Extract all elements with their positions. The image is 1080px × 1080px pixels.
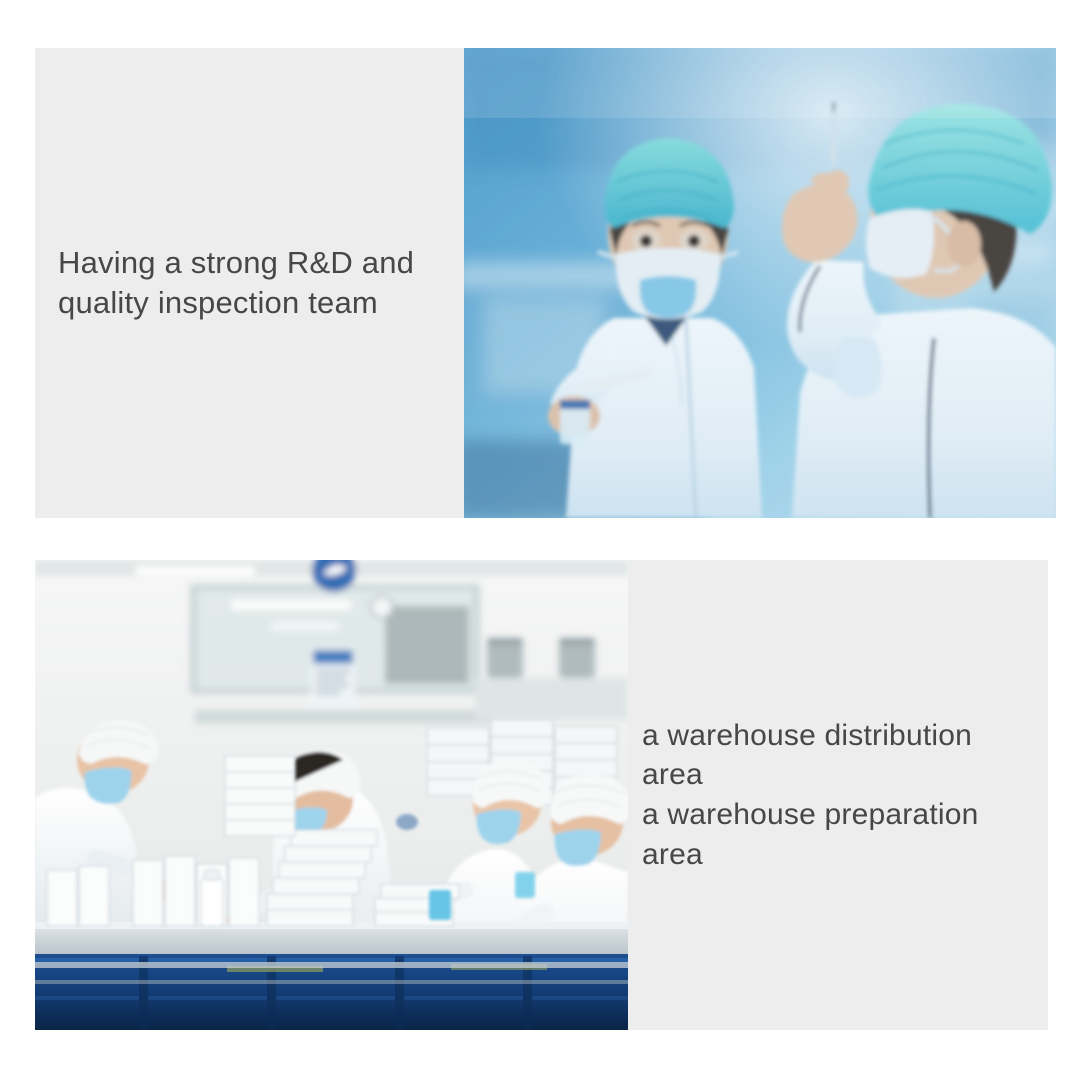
section-warehouse-areas: a warehouse distribution area a warehous… [35, 560, 1048, 1030]
poster-page: Having a strong R&D and quality inspecti… [0, 0, 1080, 1080]
caption-panel-warehouse: a warehouse distribution area a warehous… [628, 560, 1048, 1030]
lab-technicians-photo-graphic [464, 48, 1056, 518]
warehouse-packing-photo [35, 560, 628, 1030]
lab-technicians-photo [464, 48, 1056, 518]
warehouse-packing-photo-graphic [35, 560, 628, 1030]
caption-panel-rnd: Having a strong R&D and quality inspecti… [35, 48, 464, 518]
section-rnd-quality-team: Having a strong R&D and quality inspecti… [35, 48, 1056, 518]
caption-text-warehouse: a warehouse distribution area a warehous… [628, 716, 1048, 874]
caption-text-rnd: Having a strong R&D and quality inspecti… [35, 243, 424, 322]
